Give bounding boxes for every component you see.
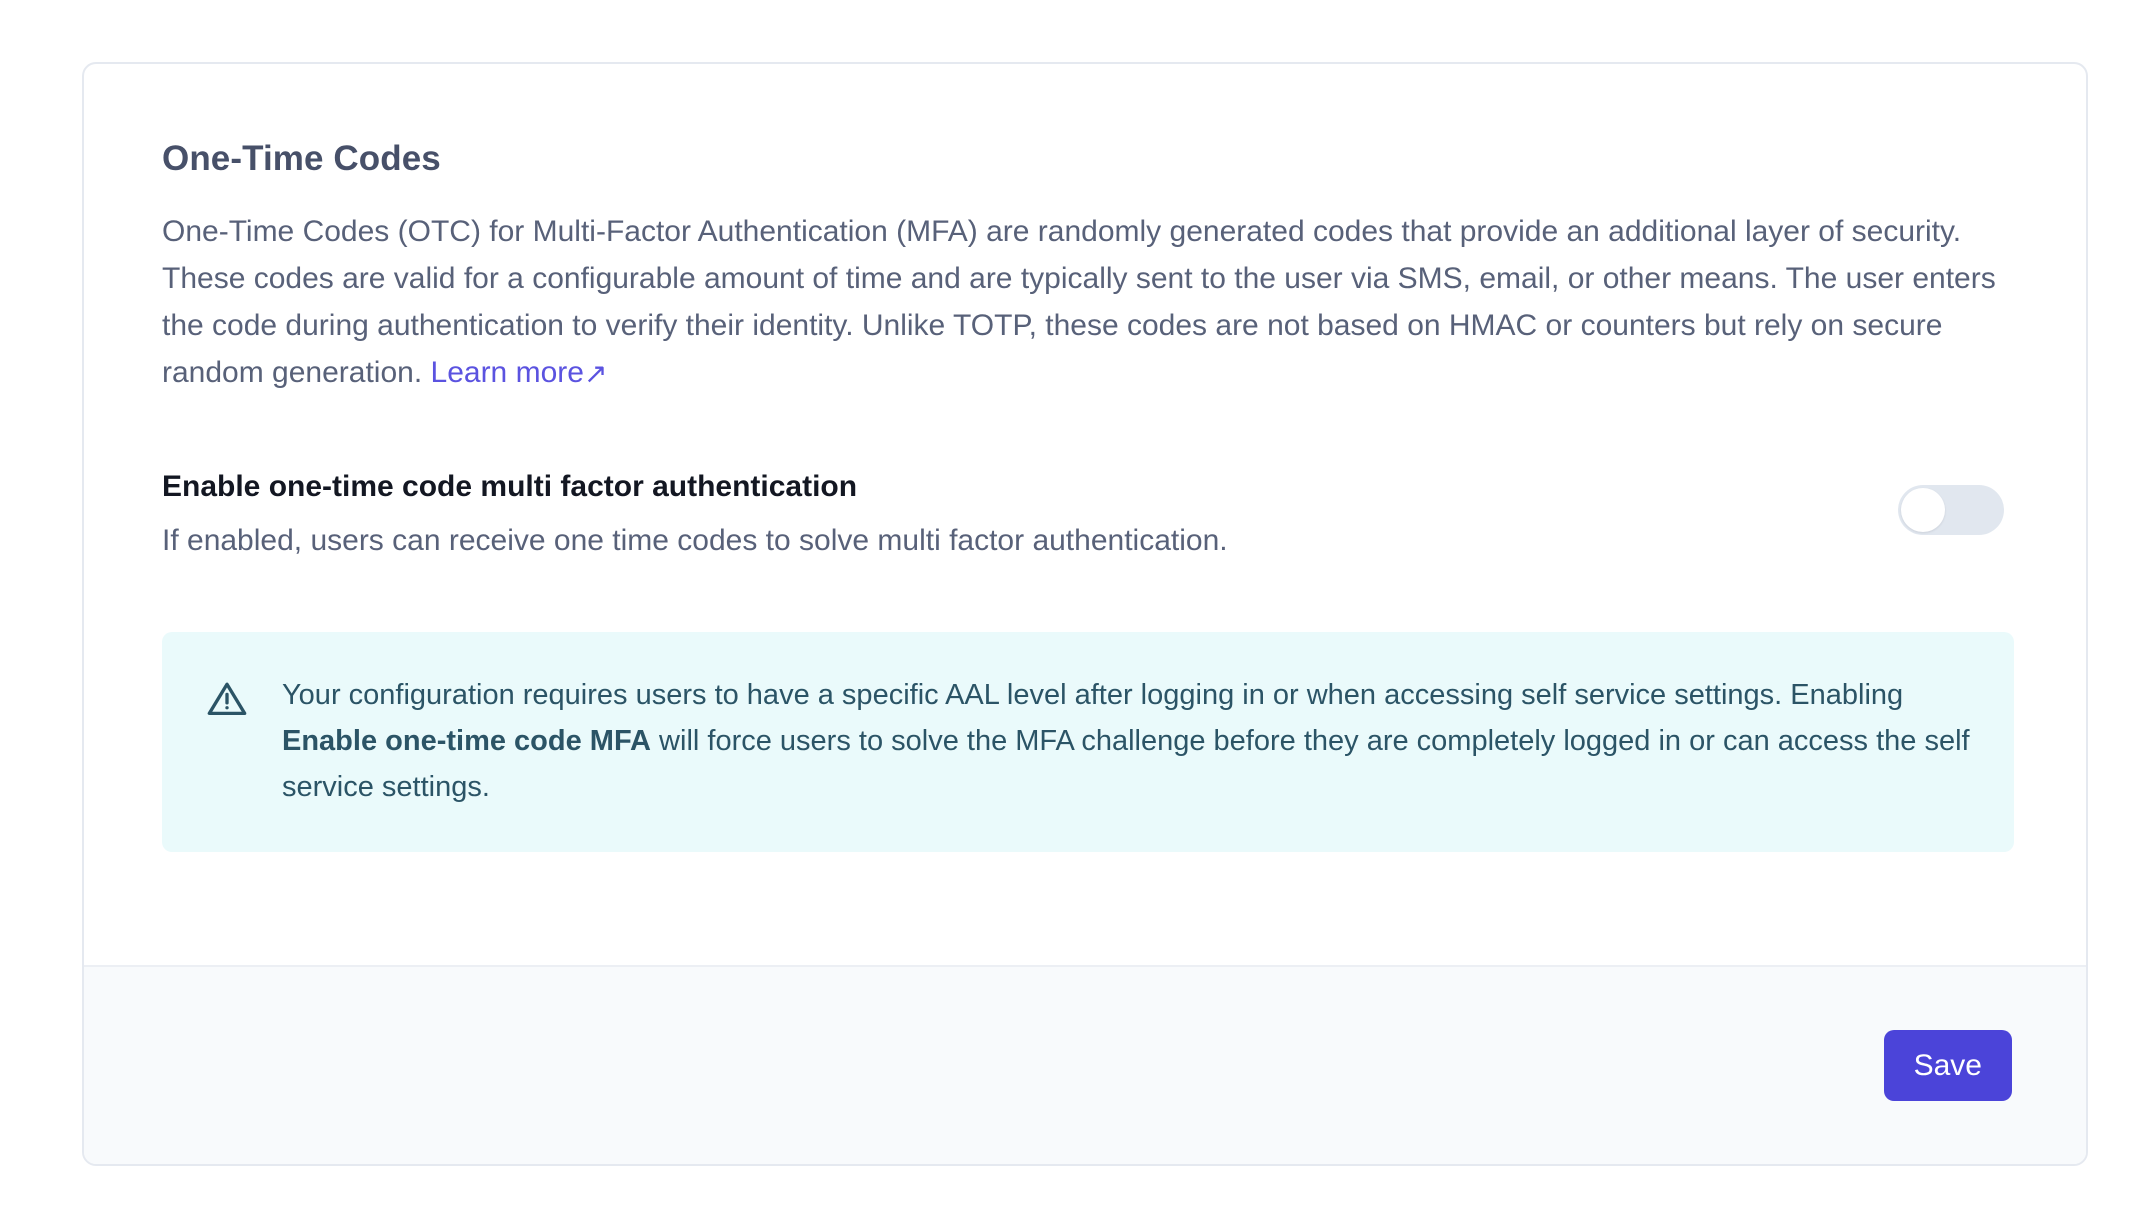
- external-link-arrow-icon: ↗: [584, 360, 607, 388]
- card-description: One-Time Codes (OTC) for Multi-Factor Au…: [162, 208, 2008, 396]
- learn-more-link[interactable]: Learn more↗: [431, 356, 608, 389]
- enable-one-time-code-mfa-toggle[interactable]: [1898, 485, 2004, 535]
- setting-sublabel: If enabled, users can receive one time c…: [162, 522, 1228, 560]
- page-root: One-Time Codes One-Time Codes (OTC) for …: [0, 0, 2146, 1218]
- toggle-knob: [1901, 488, 1945, 532]
- callout-text: Your configuration requires users to hav…: [282, 672, 1970, 810]
- learn-more-label: Learn more: [431, 356, 584, 389]
- card-body: One-Time Codes One-Time Codes (OTC) for …: [84, 64, 2086, 965]
- enable-one-time-code-mfa-row: Enable one-time code multi factor authen…: [162, 468, 2008, 560]
- callout-text-part-1: Your configuration requires users to hav…: [282, 679, 1903, 711]
- callout-text-emphasis: Enable one-time code MFA: [282, 725, 651, 757]
- one-time-codes-settings-card: One-Time Codes One-Time Codes (OTC) for …: [82, 62, 2088, 1166]
- save-button[interactable]: Save: [1884, 1030, 2012, 1101]
- aal-warning-callout: Your configuration requires users to hav…: [162, 632, 2014, 852]
- setting-texts: Enable one-time code multi factor authen…: [162, 468, 1228, 560]
- setting-label: Enable one-time code multi factor authen…: [162, 468, 1228, 506]
- card-footer: Save: [84, 965, 2086, 1164]
- page-title: One-Time Codes: [162, 138, 2008, 180]
- warning-triangle-icon: [206, 678, 248, 720]
